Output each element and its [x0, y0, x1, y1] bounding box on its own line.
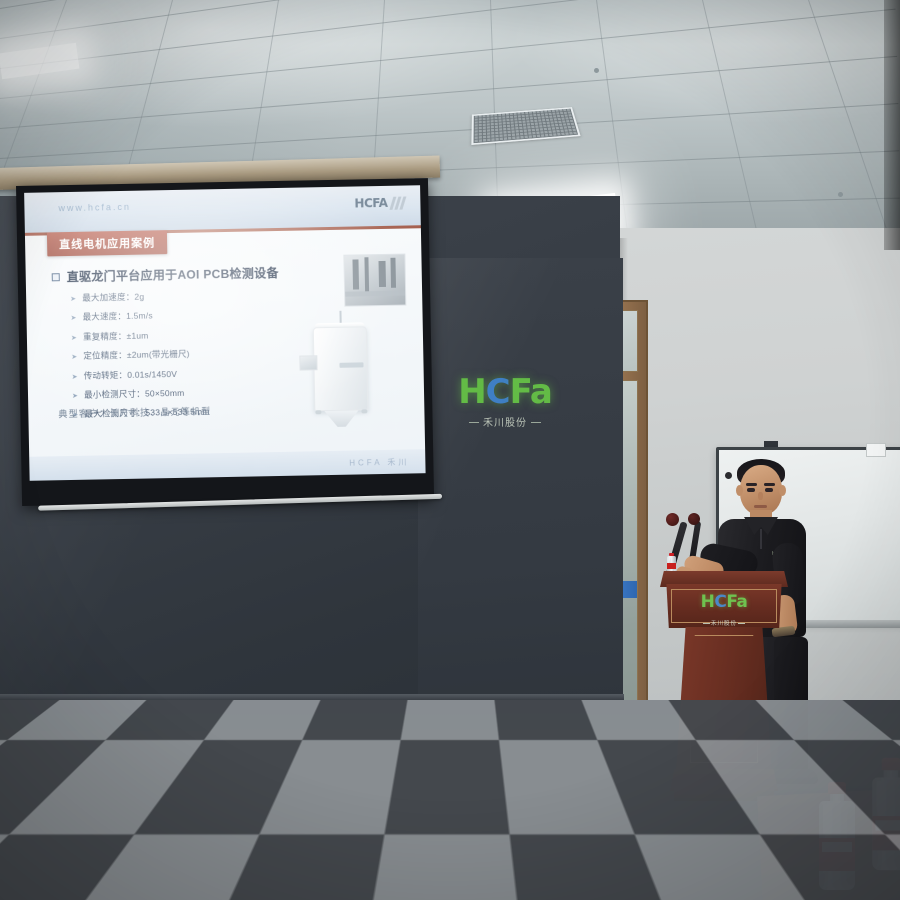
- podium: HCFa 禾川股份: [660, 571, 788, 816]
- second-microphone-icon: [688, 513, 700, 525]
- presenter-brow-right: [764, 483, 775, 486]
- logo-stripes-icon: [391, 196, 404, 209]
- slide-footer-right-text: HCFA 禾川: [349, 457, 409, 469]
- wall-sheen: [418, 258, 623, 758]
- hcfa-logo-icon: HCFA: [354, 196, 387, 211]
- slide-bullet-text: 重复精度：±1um: [83, 329, 149, 342]
- podium-body: [676, 627, 772, 773]
- slide-bullet-text: 最小检测尺寸：50×50mm: [84, 387, 185, 401]
- slide-bullet-item: ➤重复精度：±1um: [71, 327, 286, 343]
- slide-bullet-item: ➤最大速度：1.5m/s: [70, 307, 285, 323]
- sprinkler-icon: [594, 68, 599, 73]
- machine-foot: [361, 409, 367, 413]
- microphone-icon: [666, 513, 679, 526]
- bullet-arrow-icon: ➤: [72, 372, 78, 380]
- slide-url-text: www.hcfa.cn: [58, 202, 131, 213]
- presenter-placket: [760, 529, 762, 549]
- slide-bullet-text: 最大加速度：2g: [82, 291, 144, 304]
- presenter-mouth: [754, 505, 767, 508]
- presenter-eye-left: [747, 488, 755, 492]
- bullet-arrow-icon: ➤: [72, 392, 78, 400]
- podium-front-panel: HCFa 禾川股份: [664, 584, 784, 628]
- slide-bullet-item: ➤定位精度：±2um(带光栅尺): [71, 346, 286, 362]
- slide-bullet-item: ➤传动转矩：0.01s/1450V: [72, 365, 287, 381]
- presentation-slide: www.hcfa.cn HCFA 直线电机应用案例 直驱龙门平台应用于AOI P…: [24, 185, 425, 481]
- podium-brand-chinese-name: 禾川股份: [703, 619, 745, 627]
- dark-wall-right-section: [418, 258, 623, 758]
- bullet-arrow-icon: ➤: [70, 295, 76, 303]
- machine-slot: [339, 362, 363, 367]
- slide-subheading-text: 直驱龙门平台应用于AOI PCB检测设备: [67, 264, 279, 285]
- presenter-ear-left: [736, 485, 743, 496]
- machine-foot: [315, 410, 321, 414]
- wall-brand-logo: HCFa 禾川股份: [450, 372, 560, 431]
- slide-bullet-text: 最大速度：1.5m/s: [82, 310, 152, 323]
- presenter-ear-right: [779, 485, 786, 496]
- presenter-eye-right: [765, 488, 773, 492]
- machine-body: [313, 326, 369, 411]
- wall-brand-chinese-name: 禾川股份: [471, 414, 539, 429]
- bullet-square-icon: [52, 273, 60, 281]
- machine-main-photo: [298, 310, 378, 431]
- slide-subheading: 直驱龙门平台应用于AOI PCB检测设备: [52, 264, 279, 285]
- right-edge-shadow: [884, 0, 900, 250]
- presenter-nose: [758, 492, 763, 500]
- bullet-arrow-icon: ➤: [71, 353, 77, 361]
- slide-bullet-text: 定位精度：±2um(带光栅尺): [83, 348, 190, 362]
- machine-monitor: [299, 355, 317, 370]
- bullet-arrow-icon: ➤: [71, 334, 77, 342]
- projection-screen[interactable]: www.hcfa.cn HCFA 直线电机应用案例 直驱龙门平台应用于AOI P…: [16, 178, 434, 506]
- hcfa-logo-icon: HCFa: [664, 592, 784, 612]
- slide-brand-logo: HCFA: [354, 196, 404, 211]
- slide-bullet-text: 传动转矩：0.01s/1450V: [84, 368, 178, 382]
- slide-title: 直线电机应用案例: [47, 230, 167, 256]
- bullet-arrow-icon: ➤: [70, 314, 76, 322]
- whiteboard-marker-clip: [866, 443, 886, 457]
- slide-bullet-item: ➤最小检测尺寸：50×50mm: [72, 385, 287, 401]
- conference-room-scene: HCFa 禾川股份 www.hcfa.cn HCFA 直线电机应用案例 直驱龙门…: [0, 0, 900, 900]
- slide-bullet-item: ➤最大加速度：2g: [70, 288, 285, 304]
- hcfa-logo-icon: HCFa: [450, 372, 560, 412]
- presenter-brow-left: [746, 483, 757, 486]
- podium-brand-logo: HCFa 禾川股份: [664, 592, 784, 630]
- water-bottle[interactable]: [871, 758, 900, 872]
- machine-inset-photo: [343, 254, 406, 307]
- machine-funnel: [324, 410, 358, 427]
- podium-water-bottle: [667, 553, 676, 573]
- water-bottle[interactable]: [818, 782, 856, 892]
- sprinkler-icon: [838, 192, 843, 197]
